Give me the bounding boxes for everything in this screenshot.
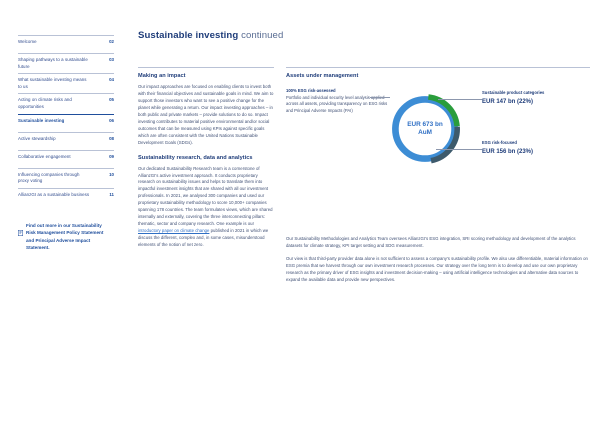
- aum-donut-chart: 100% ESG risk-assessed Portfolio and ind…: [286, 84, 590, 234]
- sidebar-item-sustainable-investing[interactable]: Sustainable investing 06: [18, 114, 114, 132]
- sidebar-item-label: Collaborative engagement: [18, 154, 71, 161]
- annotation-title: ESG risk-focused: [482, 140, 586, 147]
- divider: [138, 67, 274, 68]
- paragraph-proprietary-research: Our view is that third-party provider da…: [286, 256, 590, 284]
- sidebar-item-label: What sustainable investing means to us: [18, 77, 90, 90]
- leader-line: [436, 149, 482, 150]
- page-title-main: Sustainable investing: [138, 30, 238, 41]
- annotation-title: 100% ESG risk-assessed: [286, 88, 390, 95]
- climate-change-paper-link[interactable]: introductory paper on climate change: [138, 228, 209, 233]
- chart-annotation-esg-risk-assessed: 100% ESG risk-assessed Portfolio and ind…: [286, 88, 390, 115]
- donut-center-label: EUR 673 bn AuM: [388, 92, 462, 166]
- annotation-title: Sustainable product categories: [482, 90, 586, 97]
- find-out-more-text: Find out more in our Sustainability Risk…: [26, 222, 106, 252]
- section-heading-making-an-impact: Making an impact: [138, 73, 274, 79]
- sidebar-item-allianzgi-sustainable-business[interactable]: AllianzGI as a sustainable business 11: [18, 188, 114, 206]
- sidebar-item-active-stewardship[interactable]: Active stewardship 08: [18, 132, 114, 150]
- content-columns: Making an impact Our impact approaches a…: [138, 67, 590, 290]
- column-making-an-impact: Making an impact Our impact approaches a…: [138, 67, 274, 290]
- sidebar-item-label: Acting on climate risks and opportunitie…: [18, 97, 90, 110]
- sidebar-item-welcome[interactable]: Welcome 02: [18, 35, 114, 53]
- paragraph-making-an-impact: Our impact approaches are focused on ena…: [138, 84, 274, 147]
- sidebar-item-collaborative-engagement[interactable]: Collaborative engagement 09: [18, 150, 114, 168]
- page-title-suffix: continued: [241, 30, 283, 41]
- sidebar-item-label: Active stewardship: [18, 136, 56, 143]
- leader-line: [438, 99, 482, 100]
- find-out-more-link[interactable]: Find out more in our Sustainability Risk…: [18, 222, 114, 252]
- sidebar-navigation: Welcome 02 Shaping pathways to a sustain…: [18, 30, 114, 414]
- sidebar-item-acting-on-climate-risks[interactable]: Acting on climate risks and opportunitie…: [18, 93, 114, 113]
- sidebar-item-label: Welcome: [18, 39, 37, 46]
- paragraph-sustainability-research: Our dedicated Sustainability Research te…: [138, 166, 274, 249]
- section-heading-sustainability-research: Sustainability research, data and analyt…: [138, 155, 274, 161]
- annotation-value: EUR 147 bn (22%): [482, 98, 586, 108]
- leader-line: [370, 97, 390, 98]
- chart-annotation-esg-risk-focused: ESG risk-focused EUR 156 bn (23%): [482, 140, 586, 157]
- section-heading-assets-under-management: Assets under management: [286, 73, 590, 79]
- sidebar-item-label: Sustainable investing: [18, 118, 64, 125]
- donut-total-value: EUR 673 bn: [407, 121, 443, 129]
- main-content: Sustainable investing continued Making a…: [114, 30, 590, 414]
- sidebar-item-influencing-companies[interactable]: Influencing companies through proxy voti…: [18, 168, 114, 188]
- donut-graphic: EUR 673 bn AuM: [388, 92, 462, 166]
- paragraph-methodologies-analytics: Our Sustainability Methodologies and Ana…: [286, 236, 590, 250]
- page-title: Sustainable investing continued: [138, 30, 590, 41]
- divider: [286, 67, 590, 68]
- column-assets-under-management: Assets under management 100% ESG risk-as…: [274, 67, 590, 290]
- sidebar-item-label: Shaping pathways to a sustainable future: [18, 57, 90, 70]
- sidebar-item-label: Influencing companies through proxy voti…: [18, 172, 90, 185]
- donut-total-unit: AuM: [418, 129, 432, 137]
- document-link-icon: [18, 223, 23, 229]
- sidebar-item-shaping-pathways[interactable]: Shaping pathways to a sustainable future…: [18, 53, 114, 73]
- right-column-body: Our Sustainability Methodologies and Ana…: [286, 236, 590, 284]
- sidebar-item-label: AllianzGI as a sustainable business: [18, 192, 89, 199]
- report-page: Welcome 02 Shaping pathways to a sustain…: [0, 0, 600, 424]
- annotation-value: EUR 156 bn (23%): [482, 148, 586, 158]
- chart-annotation-sustainable-product-categories: Sustainable product categories EUR 147 b…: [482, 90, 586, 107]
- sidebar-item-what-sustainable-investing-means[interactable]: What sustainable investing means to us 0…: [18, 73, 114, 93]
- paragraph-text-part-1: Our dedicated Sustainability Research te…: [138, 166, 273, 227]
